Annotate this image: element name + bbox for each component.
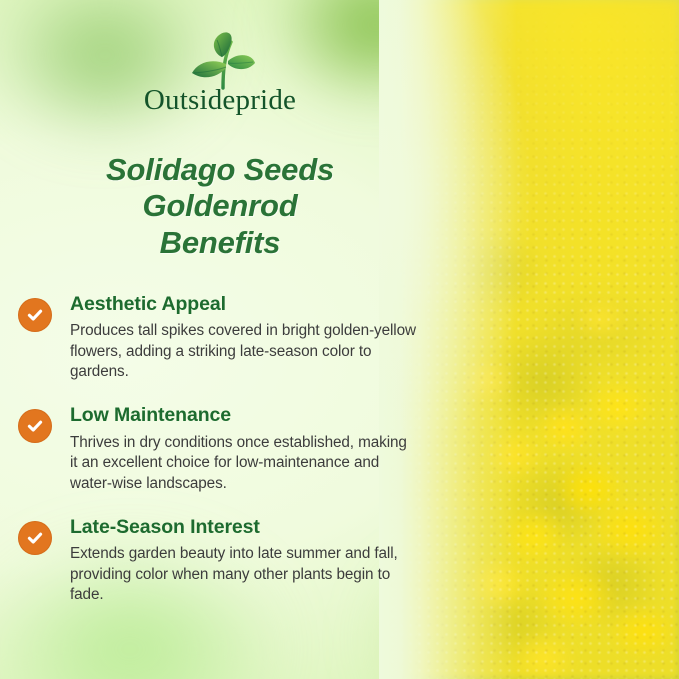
benefit-body: Extends garden beauty into late summer a… [70,544,418,605]
benefits-list: Aesthetic Appeal Produces tall spikes co… [18,293,418,627]
benefit-title: Low Maintenance [70,404,418,427]
benefit-body: Thrives in dry conditions once establish… [70,433,418,494]
benefit-item: Low Maintenance Thrives in dry condition… [18,404,418,493]
page-title-line-3: Benefits [20,225,420,261]
benefit-item: Aesthetic Appeal Produces tall spikes co… [18,293,418,382]
brand-wordmark: Outsidepride [0,86,440,115]
check-circle-icon [18,409,52,443]
check-circle-icon [18,298,52,332]
benefit-item: Late-Season Interest Extends garden beau… [18,516,418,605]
infographic-card: Outsidepride Solidago Seeds Goldenrod Be… [0,0,679,679]
page-title: Solidago Seeds Goldenrod Benefits [20,152,420,261]
benefit-title: Late-Season Interest [70,516,418,539]
page-title-line-2: Goldenrod [20,188,420,224]
page-title-line-1: Solidago Seeds [20,152,420,188]
content-column: Outsidepride Solidago Seeds Goldenrod Be… [0,0,440,679]
benefit-title: Aesthetic Appeal [70,293,418,316]
plant-leaves-icon [160,28,280,90]
check-circle-icon [18,521,52,555]
brand-logo: Outsidepride [0,28,440,115]
benefit-body: Produces tall spikes covered in bright g… [70,321,418,382]
